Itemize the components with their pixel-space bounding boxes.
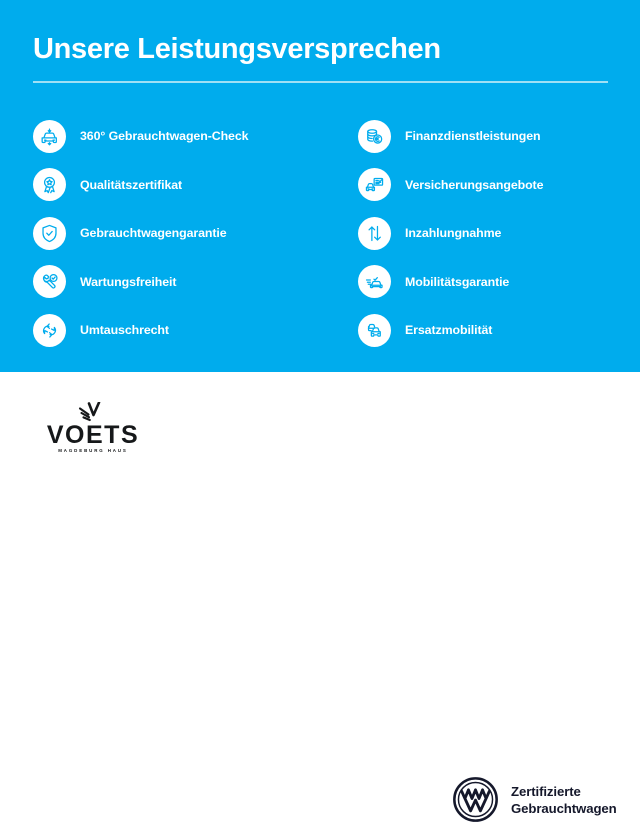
benefit-label: Mobilitätsgarantie: [405, 275, 509, 289]
benefit-label: Gebrauchtwagengarantie: [80, 226, 227, 240]
benefit-label: Ersatzmobilität: [405, 323, 492, 337]
two-cars-icon: [358, 314, 391, 347]
benefit-item[interactable]: Finanzdienstleistungen: [358, 112, 640, 161]
volkswagen-logo-icon: [452, 776, 499, 823]
car-check-icon: [33, 120, 66, 153]
benefit-label: Wartungsfreiheit: [80, 275, 176, 289]
car-tow-check-icon: [358, 265, 391, 298]
dealer-logo[interactable]: VOETS MAGDEBURG HAUS: [33, 402, 153, 455]
benefit-label: Umtauschrecht: [80, 323, 169, 337]
vw-badge-line1: Zertifizierte: [511, 783, 617, 800]
benefit-label: Versicherungsangebote: [405, 178, 543, 192]
benefit-label: Inzahlungnahme: [405, 226, 501, 240]
benefit-item[interactable]: Umtauschrecht: [33, 306, 323, 355]
exchange-arrows-icon: [33, 314, 66, 347]
benefit-label: Qualitätszertifikat: [80, 178, 182, 192]
benefit-label: 360° Gebrauchtwagen-Check: [80, 129, 248, 143]
benefit-item[interactable]: Qualitätszertifikat: [33, 161, 323, 210]
award-badge-icon: [33, 168, 66, 201]
page-title: Unsere Leistungsversprechen: [33, 32, 441, 66]
benefits-column-left: 360° Gebrauchtwagen-Check Qualitätszerti…: [33, 112, 323, 355]
benefit-label: Finanzdienstleistungen: [405, 129, 540, 143]
vw-badge-line2: Gebrauchtwagen: [511, 800, 617, 817]
benefit-item[interactable]: Wartungsfreiheit: [33, 258, 323, 307]
benefit-item[interactable]: Versicherungsangebote: [358, 161, 640, 210]
vw-certified-badge[interactable]: Zertifizierte Gebrauchtwagen: [452, 776, 617, 823]
title-divider: [33, 81, 608, 83]
benefits-column-right: Finanzdienstleistungen Versicheru: [358, 112, 640, 355]
blue-panel: Unsere Leistungsversprechen 360: [0, 0, 640, 372]
benefit-item[interactable]: Inzahlungnahme: [358, 209, 640, 258]
benefit-item[interactable]: Gebrauchtwagengarantie: [33, 209, 323, 258]
dealer-wordmark: VOETS: [33, 423, 153, 447]
shield-check-icon: [33, 217, 66, 250]
up-down-arrows-icon: [358, 217, 391, 250]
wrench-check-icon: [33, 265, 66, 298]
benefit-item[interactable]: Mobilitätsgarantie: [358, 258, 640, 307]
coins-euro-icon: [358, 120, 391, 153]
vw-badge-text: Zertifizierte Gebrauchtwagen: [511, 783, 617, 817]
car-document-icon: [358, 168, 391, 201]
benefit-item[interactable]: Ersatzmobilität: [358, 306, 640, 355]
promise-poster: Unsere Leistungsversprechen 360: [0, 0, 640, 480]
benefit-item[interactable]: 360° Gebrauchtwagen-Check: [33, 112, 323, 161]
footer: VOETS MAGDEBURG HAUS Zertifizierte Gebra…: [0, 372, 640, 480]
voets-checkmark-icon: [76, 402, 110, 422]
